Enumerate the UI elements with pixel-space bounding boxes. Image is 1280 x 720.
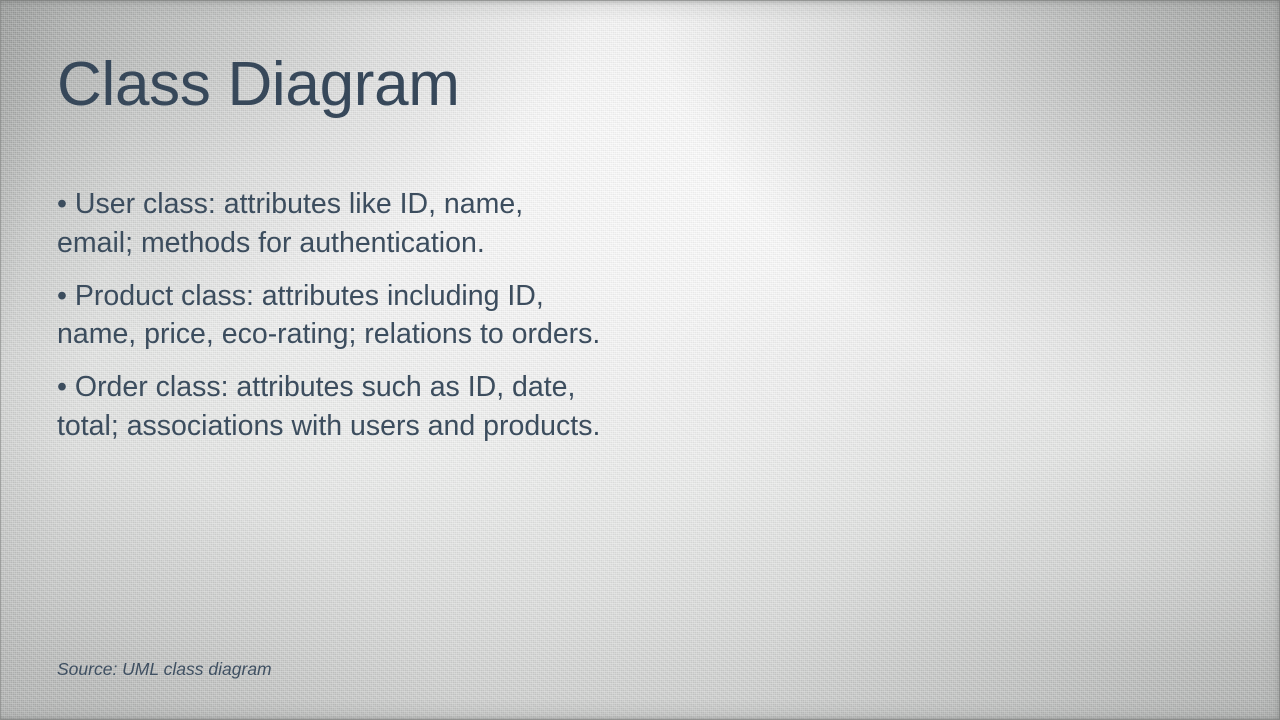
list-item-order-class: • Order class: attributes such as ID, da… <box>57 368 602 446</box>
list-item-user-class: • User class: attributes like ID, name, … <box>57 185 602 263</box>
slide-content: Class Diagram • User class: attributes l… <box>0 0 1280 720</box>
page-title: Class Diagram <box>57 52 1057 119</box>
bullet-list: • User class: attributes like ID, name, … <box>57 185 602 446</box>
presentation-slide: Class Diagram • User class: attributes l… <box>0 0 1280 720</box>
source-caption: Source: UML class diagram <box>57 657 272 681</box>
list-item-product-class: • Product class: attributes including ID… <box>57 277 602 355</box>
